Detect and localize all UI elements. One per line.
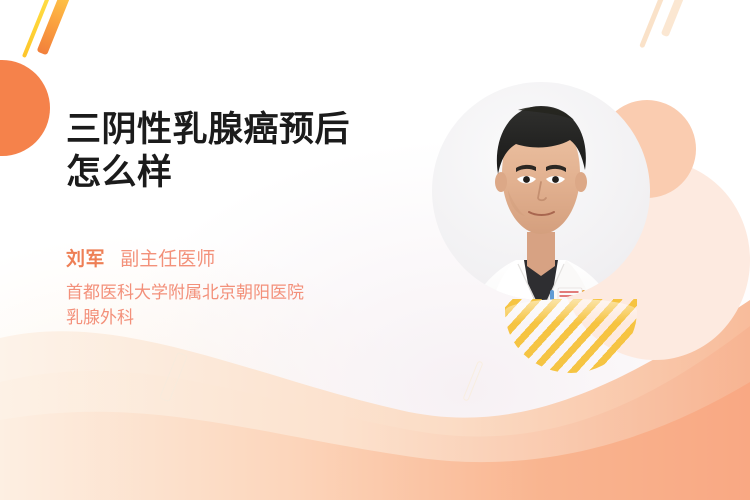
- doctor-portrait: [432, 82, 650, 300]
- yellow-diagonal-stripe-icon: [22, 0, 54, 58]
- faint-diagonal-stripe-right-b-icon: [661, 0, 692, 37]
- doctor-hospital: 首都医科大学附属北京朝阳医院: [66, 280, 446, 306]
- doctor-department: 乳腺外科: [66, 305, 446, 331]
- orange-diagonal-stripe-icon: [37, 0, 75, 55]
- doctor-credentials-block: 刘军 副主任医师 首都医科大学附属北京朝阳医院 乳腺外科: [66, 246, 446, 331]
- headline-line-2: 怎么样: [66, 151, 426, 194]
- portrait-disc: [432, 82, 650, 300]
- headline-block: 三阴性乳腺癌预后 怎么样: [66, 108, 426, 195]
- headline-line-1: 三阴性乳腺癌预后: [66, 108, 426, 151]
- doctor-name: 刘军: [66, 249, 105, 270]
- portrait-illustration: [432, 82, 650, 300]
- doctor-name-row: 刘军 副主任医师: [66, 246, 446, 275]
- doctor-title: 副主任医师: [120, 249, 215, 270]
- striped-blob-fade: [505, 299, 637, 323]
- page-title: 三阴性乳腺癌预后 怎么样: [66, 108, 426, 195]
- faint-diagonal-stripe-right-a-icon: [639, 0, 670, 48]
- orange-circle-decoration: [0, 60, 50, 156]
- doctor-organization: 首都医科大学附属北京朝阳医院 乳腺外科: [66, 280, 446, 331]
- video-cover-card: 三阴性乳腺癌预后 怎么样 刘军 副主任医师 首都医科大学附属北京朝阳医院 乳腺外…: [0, 0, 750, 500]
